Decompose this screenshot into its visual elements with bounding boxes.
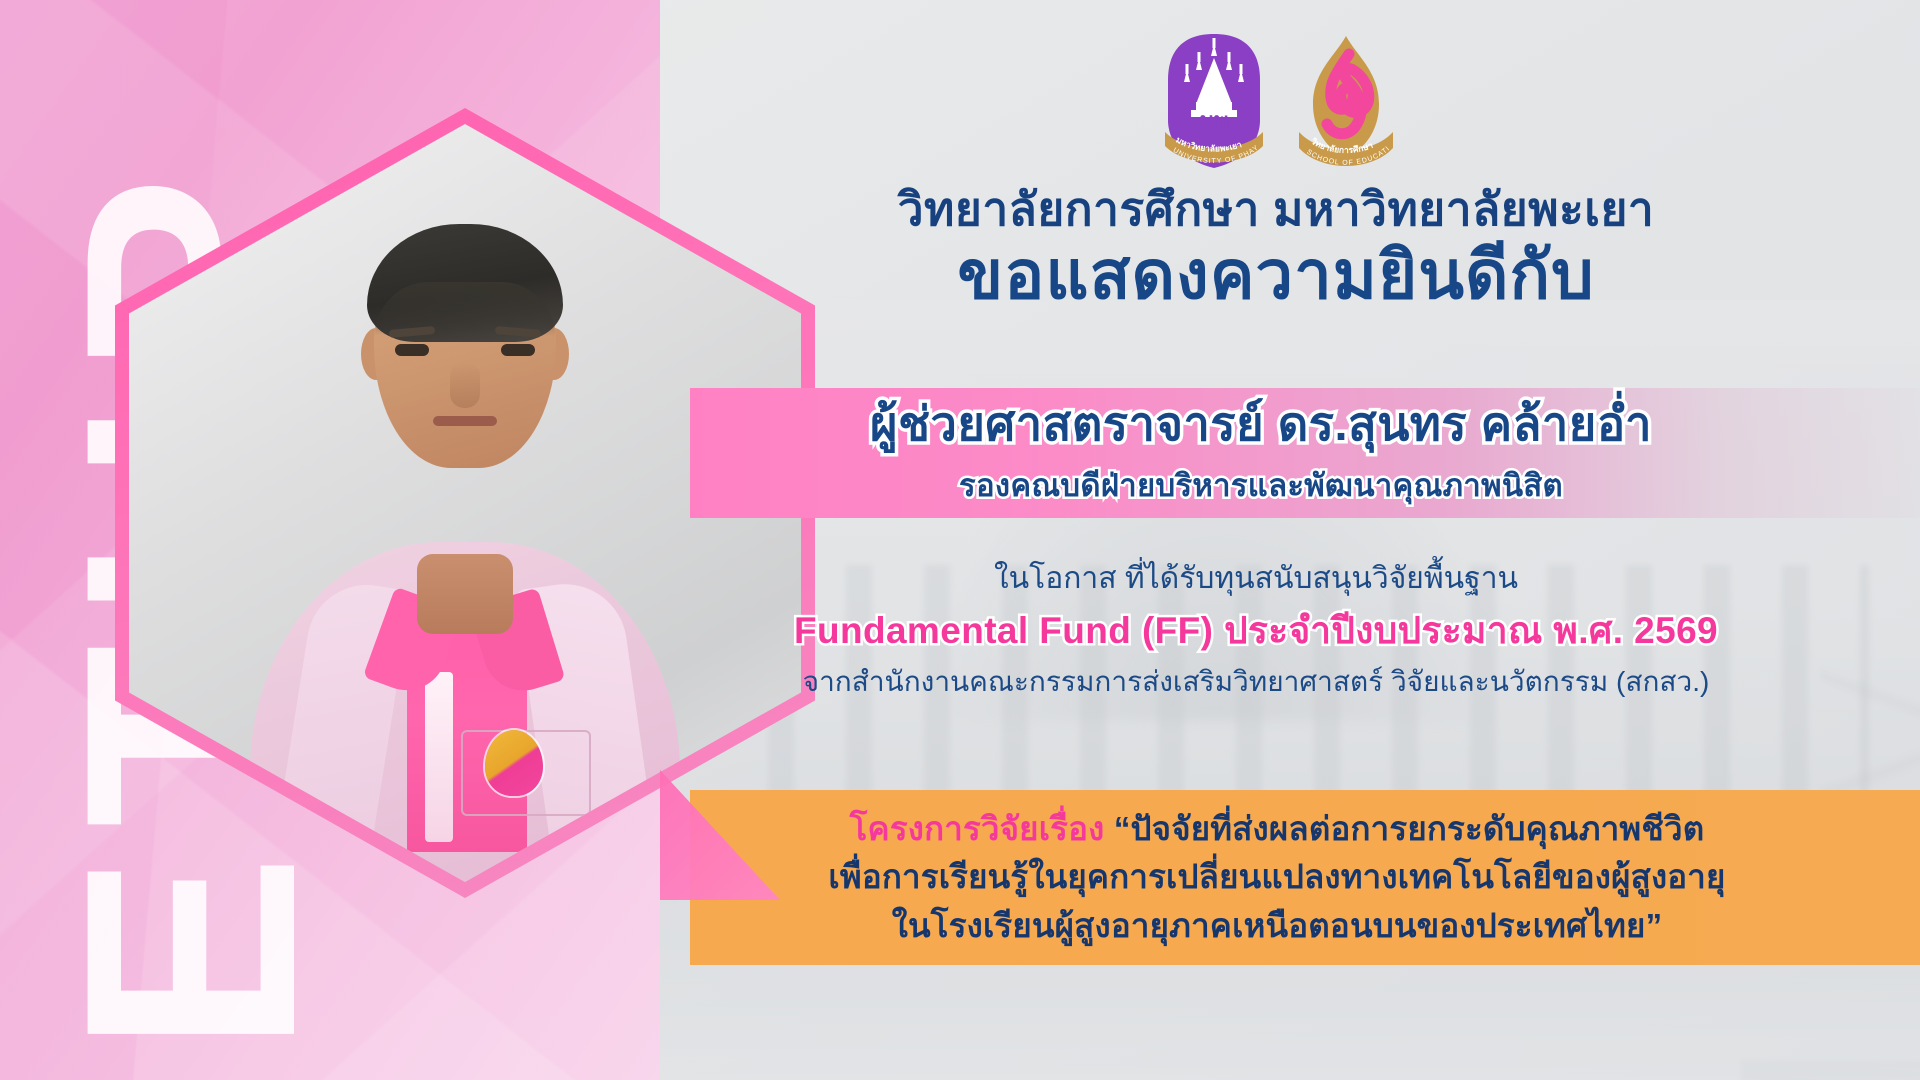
grant-agency: จากสำนักงานคณะกรรมการส่งเสริมวิทยาศาสตร์… [626,661,1886,703]
honoree-role: รองคณบดีฝ่ายบริหารและพัฒนาคุณภาพนิสิต [959,460,1563,510]
grant-fund-name: Fundamental Fund (FF) ประจำปีงบประมาณ พ.… [626,603,1886,659]
congratulation-line: ขอแสดงความยินดีกับ [646,238,1906,313]
headline-block: วิทยาลัยการศึกษา มหาวิทยาลัยพะเยา ขอแสดง… [646,182,1906,313]
project-prefix: โครงการวิจัยเรื่อง [850,810,1114,847]
portrait-eye-left [395,344,429,356]
school-of-education-logo: วิทยาลัยการศึกษา SCHOOL OF EDUCATION [1287,28,1405,176]
logo-row: มพ มหาวิทยาลัยพะเยา UNIVERSITY OF PHAYAO [650,28,1910,176]
portrait-nose [450,362,480,408]
project-title-line-3: ในโรงเรียนผู้สูงอายุภาคเหนือตอนบนของประเ… [892,902,1663,950]
project-title-part-1: “ปัจจัยที่ส่งผลต่อการยกระดับคุณภาพชีวิต [1114,810,1705,847]
project-title-line-1: โครงการวิจัยเรื่อง “ปัจจัยที่ส่งผลต่อการ… [850,805,1705,853]
portrait-eye-right [501,344,535,356]
portrait-neck [417,554,513,634]
school-of-education-pin-icon [485,730,543,796]
honoree-name: ผู้ช่วยศาสตราจารย์ ดร.สุนทร คล้ายอ่ำ [870,396,1652,452]
content-column: มพ มหาวิทยาลัยพะเยา UNIVERSITY OF PHAYAO [660,0,1920,1080]
organization-line: วิทยาลัยการศึกษา มหาวิทยาลัยพะเยา [646,182,1906,236]
congratulations-poster: SETUP [0,0,1920,1080]
portrait-mouth [433,416,497,426]
project-title-line-2: เพื่อการเรียนรู้ในยุคการเปลี่ยนแปลงทางเท… [828,853,1725,901]
svg-text:มพ: มพ [1199,108,1228,133]
grant-occasion: ในโอกาส ที่ได้รับทุนสนับสนุนวิจัยพื้นฐาน [626,556,1886,601]
honoree-banner: ผู้ช่วยศาสตราจารย์ ดร.สุนทร คล้ายอ่ำ รอง… [690,388,1920,518]
portrait-hair [367,224,563,342]
university-of-phayao-logo: มพ มหาวิทยาลัยพะเยา UNIVERSITY OF PHAYAO [1155,28,1273,176]
grant-block: ในโอกาส ที่ได้รับทุนสนับสนุนวิจัยพื้นฐาน… [626,556,1886,703]
project-banner: โครงการวิจัยเรื่อง “ปัจจัยที่ส่งผลต่อการ… [690,790,1920,965]
portrait-jacket-button [337,845,354,862]
portrait-shirt-placket [425,672,453,842]
